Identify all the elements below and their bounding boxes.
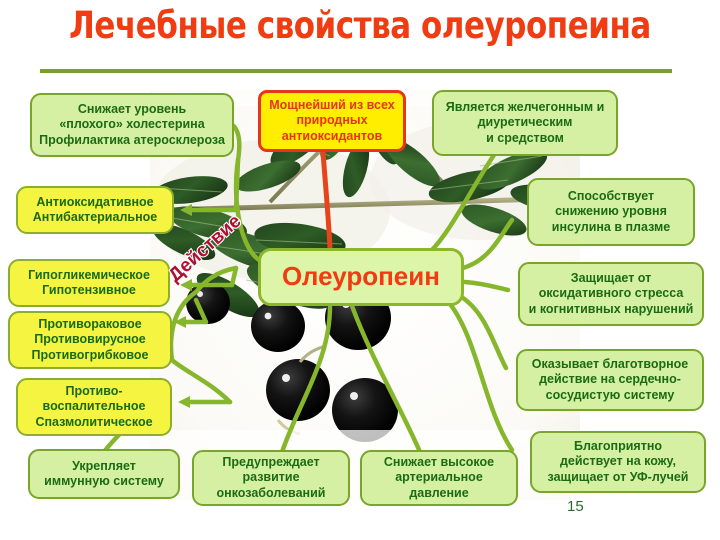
box-oncology-label: Предупреждает развитие онкозаболеваний	[194, 455, 348, 501]
box-anticancer-label: Противораковое Противовирусное Противогр…	[10, 317, 170, 363]
box-cholesterol[interactable]: Снижает уровень «плохого» холестерина Пр…	[30, 93, 234, 157]
box-skin-uv[interactable]: Благоприятно действует на кожу, защищает…	[530, 431, 706, 493]
box-antiinflammatory[interactable]: Противо- воспалительное Спазмолитическое	[16, 378, 172, 436]
box-choleretic-label: Является желчегонным и диуретическим и с…	[434, 100, 616, 146]
box-antioxidative[interactable]: Антиоксидативное Антибактериальное	[16, 186, 174, 234]
box-cholesterol-label: Снижает уровень «плохого» холестерина Пр…	[32, 102, 232, 148]
box-oncology[interactable]: Предупреждает развитие онкозаболеваний	[192, 450, 350, 506]
box-antioxidant[interactable]: Мощнейший из всех природных антиоксидант…	[258, 90, 406, 152]
page-title: Лечебные свойства олеуропеина	[25, 4, 695, 47]
box-choleretic[interactable]: Является желчегонным и диуретическим и с…	[432, 90, 618, 156]
box-blood-pressure-label: Снижает высокое артериальное давление	[362, 455, 516, 501]
title-divider	[40, 69, 672, 73]
box-antioxidative-label: Антиоксидативное Антибактериальное	[18, 195, 172, 226]
box-insulin[interactable]: Способствует снижению уровня инсулина в …	[527, 178, 695, 246]
box-cardiovascular-label: Оказывает благотворное действие на серде…	[518, 357, 702, 403]
box-cardiovascular[interactable]: Оказывает благотворное действие на серде…	[516, 349, 704, 411]
center-node-label: Олеуропеин	[261, 261, 461, 293]
box-antiinflammatory-label: Противо- воспалительное Спазмолитическое	[18, 384, 170, 430]
box-oxidative-stress[interactable]: Защищает от оксидативного стресса и когн…	[518, 262, 704, 326]
box-blood-pressure[interactable]: Снижает высокое артериальное давление	[360, 450, 518, 506]
box-anticancer[interactable]: Противораковое Противовирусное Противогр…	[8, 311, 172, 369]
box-insulin-label: Способствует снижению уровня инсулина в …	[529, 189, 693, 235]
page-number: 15	[567, 498, 584, 515]
box-antioxidant-label: Мощнейший из всех природных антиоксидант…	[261, 98, 403, 144]
box-immune[interactable]: Укрепляет иммунную систему	[28, 449, 180, 499]
box-hypoglycemic-label: Гипогликемическое Гипотензивное	[10, 268, 168, 299]
center-node-oleuropein[interactable]: Олеуропеин	[258, 248, 464, 306]
box-skin-uv-label: Благоприятно действует на кожу, защищает…	[532, 439, 704, 485]
box-oxidative-stress-label: Защищает от оксидативного стресса и когн…	[520, 271, 702, 317]
box-hypoglycemic[interactable]: Гипогликемическое Гипотензивное	[8, 259, 170, 307]
slide-canvas: Лечебные свойства олеуропеина Снижает ур…	[0, 0, 720, 540]
box-immune-label: Укрепляет иммунную систему	[30, 459, 178, 490]
